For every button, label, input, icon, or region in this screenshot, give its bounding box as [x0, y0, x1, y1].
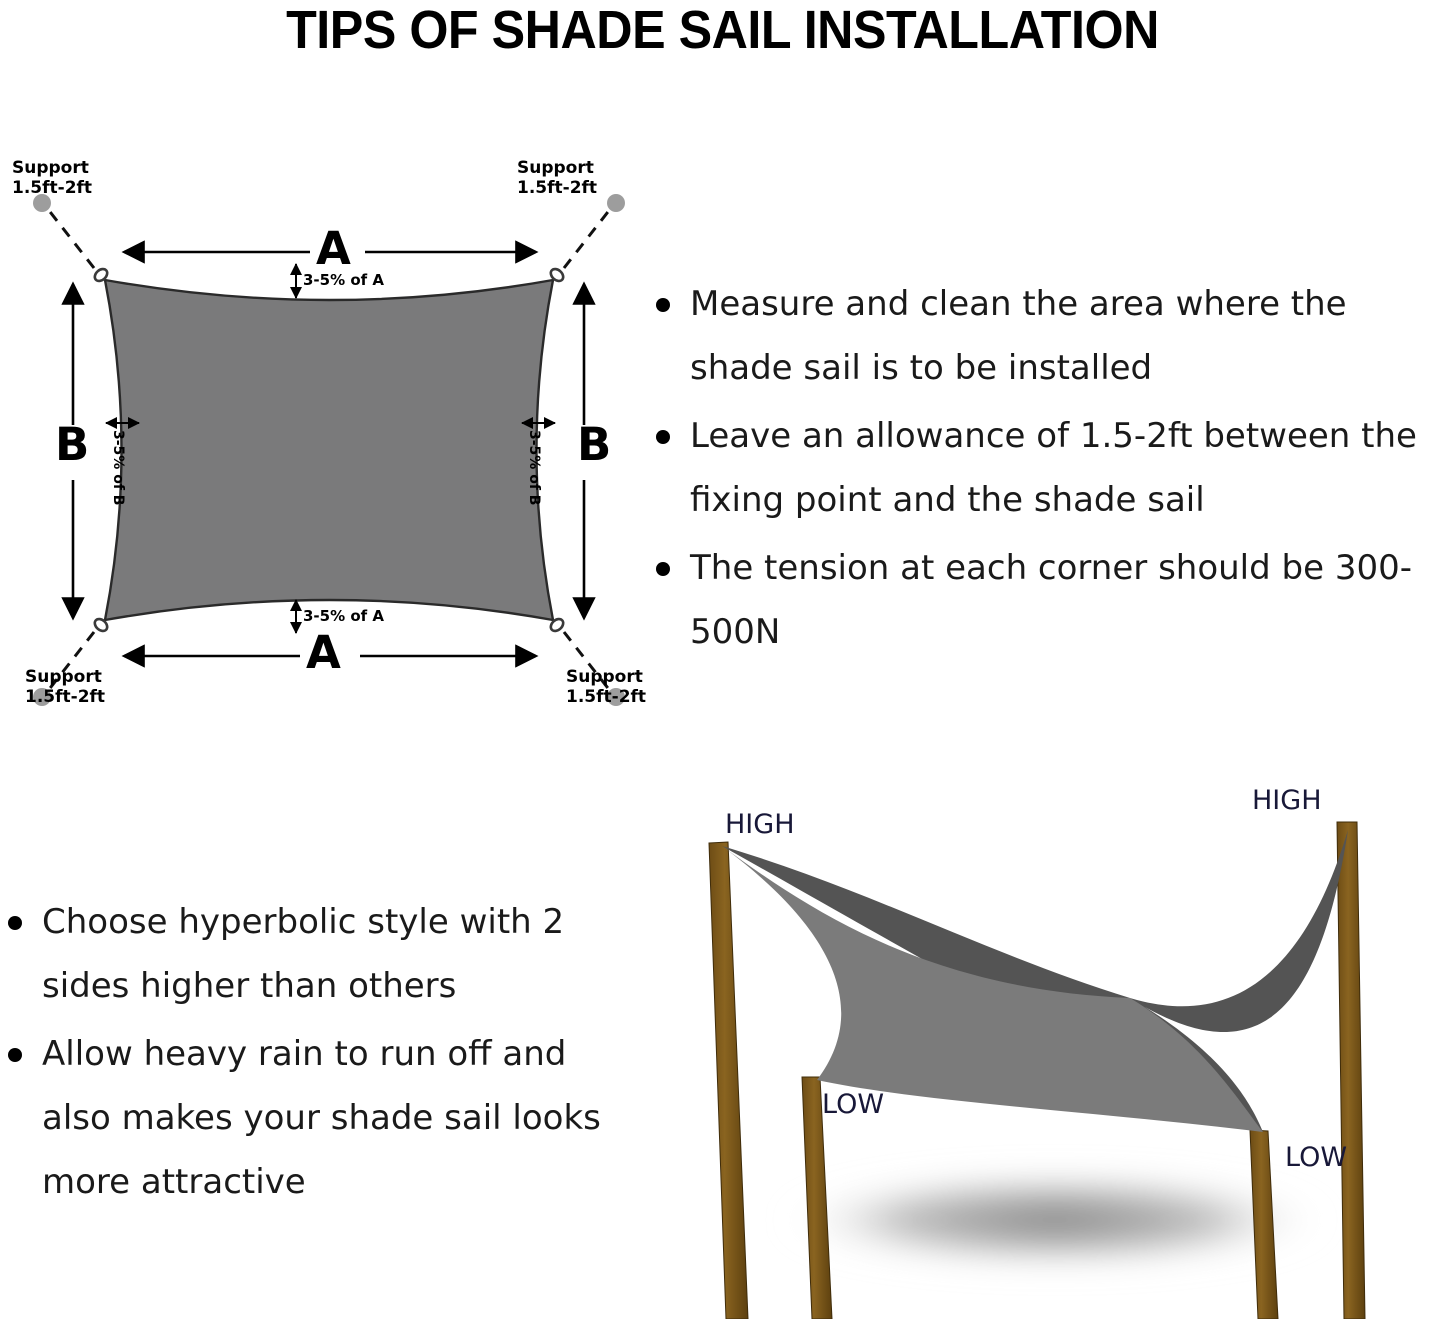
tip-text: Leave an allowance of 1.5-2ft between th…: [690, 416, 1417, 520]
tip-text: The tension at each corner should be 300…: [690, 548, 1412, 652]
tip-item: The tension at each corner should be 300…: [648, 536, 1445, 664]
support-bottom-right-line2: 1.5ft-2ft: [566, 687, 646, 707]
bullet-dot-icon: [656, 562, 670, 576]
bullet-dot-icon: [656, 298, 670, 312]
tips-list-left: Choose hyperbolic style with 2 sides hig…: [0, 890, 630, 1218]
pole-high-left: [709, 842, 748, 1319]
support-bottom-right-line1: Support: [566, 667, 646, 687]
page-title: TIPS OF SHADE SAIL INSTALLATION: [51, 2, 1395, 58]
tip-item: Measure and clean the area where the sha…: [648, 272, 1445, 400]
tip-text: Choose hyperbolic style with 2 sides hig…: [42, 902, 564, 1006]
support-top-left-line1: Support: [12, 158, 92, 178]
label-high-right: HIGH: [1252, 786, 1322, 815]
support-bottom-left-line1: Support: [25, 667, 105, 687]
hyperbolic-sail-svg: [660, 780, 1445, 1319]
tip-item: Leave an allowance of 1.5-2ft between th…: [648, 404, 1445, 532]
hyperbolic-sail-illustration: HIGH HIGH LOW LOW: [660, 780, 1445, 1319]
support-top-left-line2: 1.5ft-2ft: [12, 178, 92, 198]
tips-list-right: Measure and clean the area where the sha…: [648, 272, 1445, 668]
support-bottom-left-line2: 1.5ft-2ft: [25, 687, 105, 707]
curve-label-a-bottom: 3-5% of A: [303, 608, 384, 625]
dimension-label-b-right: B: [577, 422, 611, 467]
tip-text: Allow heavy rain to run off and also mak…: [42, 1034, 601, 1202]
pole-high-right: [1337, 822, 1365, 1319]
bullet-dot-icon: [656, 430, 670, 444]
tip-item: Allow heavy rain to run off and also mak…: [0, 1022, 630, 1214]
support-top-left: Support 1.5ft-2ft: [12, 158, 92, 198]
sail-shape: [105, 280, 553, 620]
tip-item: Choose hyperbolic style with 2 sides hig…: [0, 890, 630, 1018]
bullet-dot-icon: [8, 916, 22, 930]
curve-label-a-top: 3-5% of A: [303, 272, 384, 289]
support-bottom-left: Support 1.5ft-2ft: [25, 667, 105, 707]
ground-shadow: [780, 1172, 1330, 1268]
curve-label-b-left: 3-5% of B: [110, 430, 125, 505]
tip-text: Measure and clean the area where the sha…: [690, 284, 1347, 388]
rect-sail-diagram: A A B B 3-5% of A 3-5% of A 3-5% of B 3-…: [0, 160, 660, 730]
bullet-dot-icon: [8, 1048, 22, 1062]
curve-label-b-right: 3-5% of B: [526, 430, 541, 505]
label-high-left: HIGH: [725, 810, 795, 839]
support-top-right: Support 1.5ft-2ft: [517, 158, 597, 198]
support-top-right-line2: 1.5ft-2ft: [517, 178, 597, 198]
dimension-label-a-bottom: A: [306, 630, 341, 675]
dimension-label-a-top: A: [316, 226, 351, 271]
support-top-right-line1: Support: [517, 158, 597, 178]
support-bottom-right: Support 1.5ft-2ft: [566, 667, 646, 707]
label-low-left: LOW: [822, 1090, 884, 1119]
dimension-label-b-left: B: [55, 422, 89, 467]
label-low-right: LOW: [1285, 1143, 1347, 1172]
